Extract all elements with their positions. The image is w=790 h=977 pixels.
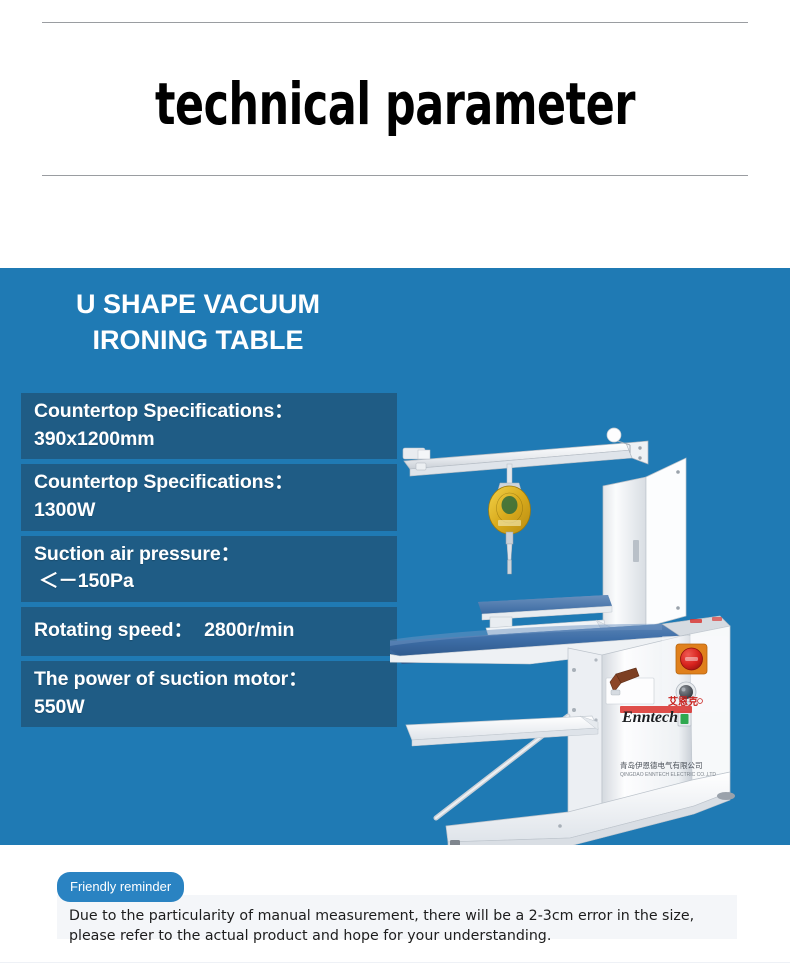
spec-key: Suction air pressure：: [34, 543, 240, 565]
company-cn-label: 青岛伊恩德电气有限公司: [620, 760, 703, 770]
product-photo: 艾恩克 Enntech 青岛伊恩德电气有限公司 QINGDAO ENNTECH …: [390, 420, 790, 860]
spec-value: 550W: [34, 694, 385, 722]
header-divider-bottom: [42, 175, 748, 176]
spec-value: 1300W: [34, 497, 385, 525]
product-title: U SHAPE VACUUM IRONING TABLE: [22, 287, 374, 359]
page-footer: Friendly reminder Due to the particulari…: [0, 845, 790, 977]
spec-value: 390x1200mm: [34, 426, 385, 454]
spec-row: Suction air pressure： ＜－150Pa: [21, 536, 397, 602]
brand-cn-label: 艾恩克: [668, 695, 698, 708]
vertical-mast: [603, 458, 686, 630]
brand-label: Enntech: [621, 709, 678, 726]
product-title-line-1: U SHAPE VACUUM: [76, 289, 320, 319]
spec-key: The power of suction motor：: [34, 668, 308, 690]
spec-row: Countertop Specifications： 390x1200mm: [21, 393, 397, 459]
product-title-line-2: IRONING TABLE: [93, 325, 304, 355]
spec-row: Countertop Specifications： 1300W: [21, 464, 397, 530]
spec-list: Countertop Specifications： 390x1200mm Co…: [21, 393, 397, 732]
spec-row: The power of suction motor： 550W: [21, 661, 397, 727]
footer-divider: [0, 962, 790, 963]
spec-key: Rotating speed：: [34, 619, 193, 641]
overhead-arm: [403, 428, 648, 484]
company-en-label: QINGDAO ENNTECH ELECTRIC CO.,LTD: [620, 772, 716, 778]
spec-key: Countertop Specifications：: [34, 400, 294, 422]
spec-value: 2800r/min: [204, 619, 294, 641]
page-title: technical parameter: [71, 70, 719, 138]
friendly-reminder-badge: Friendly reminder: [57, 872, 184, 902]
power-indicator-icon: [681, 714, 689, 724]
measurement-disclaimer: Due to the particularity of manual measu…: [69, 906, 729, 946]
page-header: technical parameter: [0, 0, 790, 268]
spring-balancer: [489, 483, 531, 574]
company-decal: 青岛伊恩德电气有限公司 QINGDAO ENNTECH ELECTRIC CO.…: [620, 760, 716, 778]
spec-value: ＜－150Pa: [34, 568, 385, 596]
spec-key: Countertop Specifications：: [34, 471, 294, 493]
header-divider-top: [42, 22, 748, 23]
spec-row: Rotating speed： 2800r/min: [21, 607, 397, 656]
